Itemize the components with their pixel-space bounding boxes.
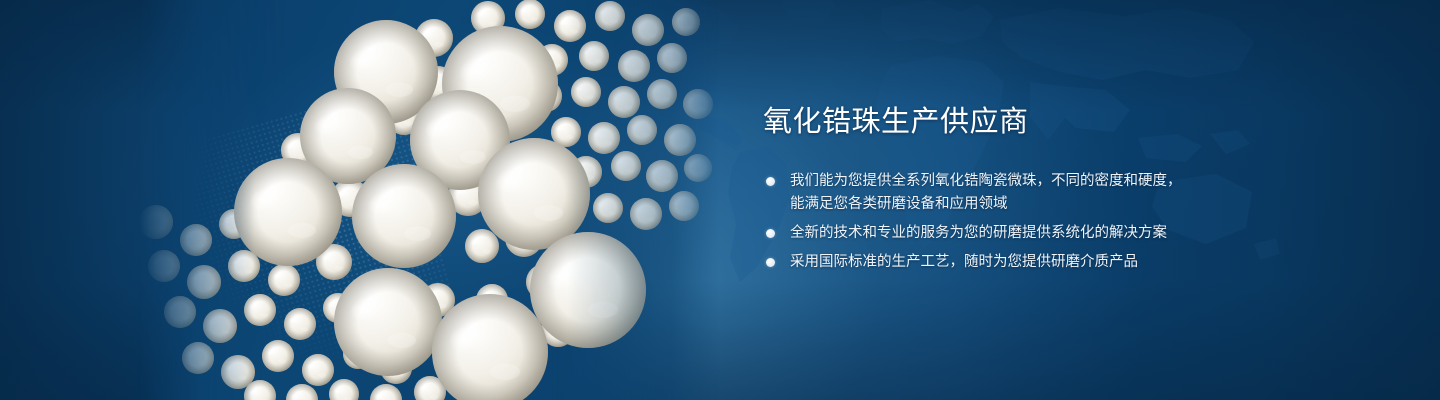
zirconia-beads-illustration [138, 0, 718, 400]
list-item-line: 采用国际标准的生产工艺，随时为您提供研磨介质产品 [790, 251, 1323, 274]
bullet-dot-icon [766, 229, 775, 238]
list-item: 全新的技术和专业的服务为您的研磨提供系统化的解决方案 [763, 222, 1323, 245]
hero-banner: 氧化锆珠生产供应商 我们能为您提供全系列氧化锆陶瓷微珠，不同的密度和硬度， 能满… [0, 0, 1440, 400]
list-item-line: 能满足您各类研磨设备和应用领域 [790, 193, 1323, 216]
list-item-line: 全新的技术和专业的服务为您的研磨提供系统化的解决方案 [790, 222, 1323, 245]
feature-list: 我们能为您提供全系列氧化锆陶瓷微珠，不同的密度和硬度， 能满足您各类研磨设备和应… [763, 170, 1323, 274]
bullet-dot-icon [766, 258, 775, 267]
banner-copy: 氧化锆珠生产供应商 我们能为您提供全系列氧化锆陶瓷微珠，不同的密度和硬度， 能满… [763, 104, 1323, 274]
bullet-dot-icon [766, 177, 775, 186]
list-item: 采用国际标准的生产工艺，随时为您提供研磨介质产品 [763, 251, 1323, 274]
beads-photo [138, 0, 718, 400]
page-title: 氧化锆珠生产供应商 [763, 104, 1323, 140]
list-item: 我们能为您提供全系列氧化锆陶瓷微珠，不同的密度和硬度， 能满足您各类研磨设备和应… [763, 170, 1323, 216]
list-item-line: 我们能为您提供全系列氧化锆陶瓷微珠，不同的密度和硬度， [790, 170, 1323, 193]
